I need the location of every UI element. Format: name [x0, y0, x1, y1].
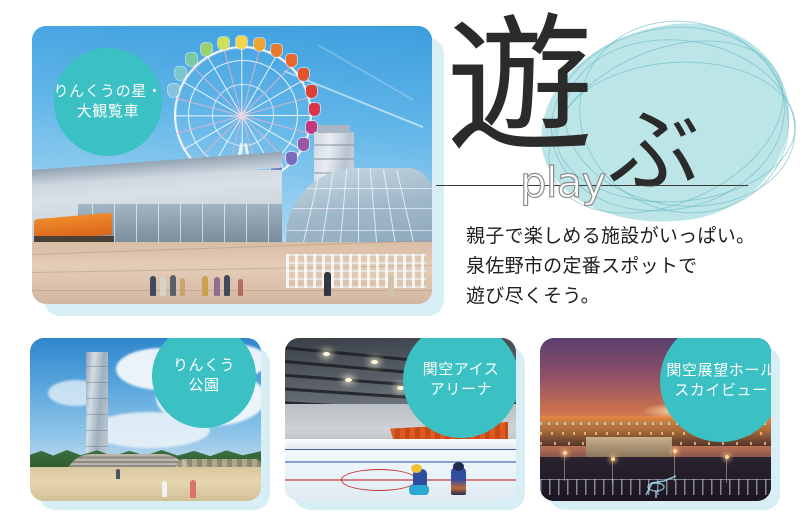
photo-card-sky-view[interactable]: 関空展望ホール スカイビュー	[540, 338, 780, 510]
badge-line-1: りんくうの星・	[54, 82, 163, 102]
badge-line-1: 関空展望ホール	[666, 361, 771, 381]
badge-line-2: 大観覧車	[77, 102, 139, 122]
title-kanji-main: 遊	[446, 12, 594, 160]
badge-line-1: りんくう	[173, 356, 235, 376]
badge-line-2: 公園	[188, 376, 219, 396]
photo-card-kanku-ice-arena[interactable]: 関空アイス アリーナ	[285, 338, 525, 510]
photo-frame: りんくう 公園	[30, 338, 261, 501]
photo-frame: りんくうの星・ 大観覧車	[32, 26, 432, 304]
title-romaji: play	[520, 162, 606, 204]
badge-ferris-wheel[interactable]: りんくうの星・ 大観覧車	[54, 48, 162, 156]
photo-card-ferris-wheel[interactable]: りんくうの星・ 大観覧車	[32, 26, 444, 316]
badge-line-1: 関空アイス	[423, 360, 500, 380]
badge-line-2: アリーナ	[430, 380, 492, 400]
badge-line-2: スカイビュー	[674, 381, 768, 401]
photo-frame: 関空アイス アリーナ	[285, 338, 516, 501]
page-root: りんくうの星・ 大観覧車	[0, 0, 800, 515]
photo-frame: 関空展望ホール スカイビュー	[540, 338, 771, 501]
photo-card-rinku-park[interactable]: りんくう 公園	[30, 338, 270, 510]
telescope-silhouette-icon	[642, 473, 686, 499]
description-text: 親子で楽しめる施設がいっぱい。 泉佐野市の定番スポットで 遊び尽くそう。	[466, 222, 755, 312]
title-block: 遊 ぶ play 親子で楽しめる施設がいっぱい。 泉佐野市の定番スポットで 遊び…	[432, 10, 800, 330]
